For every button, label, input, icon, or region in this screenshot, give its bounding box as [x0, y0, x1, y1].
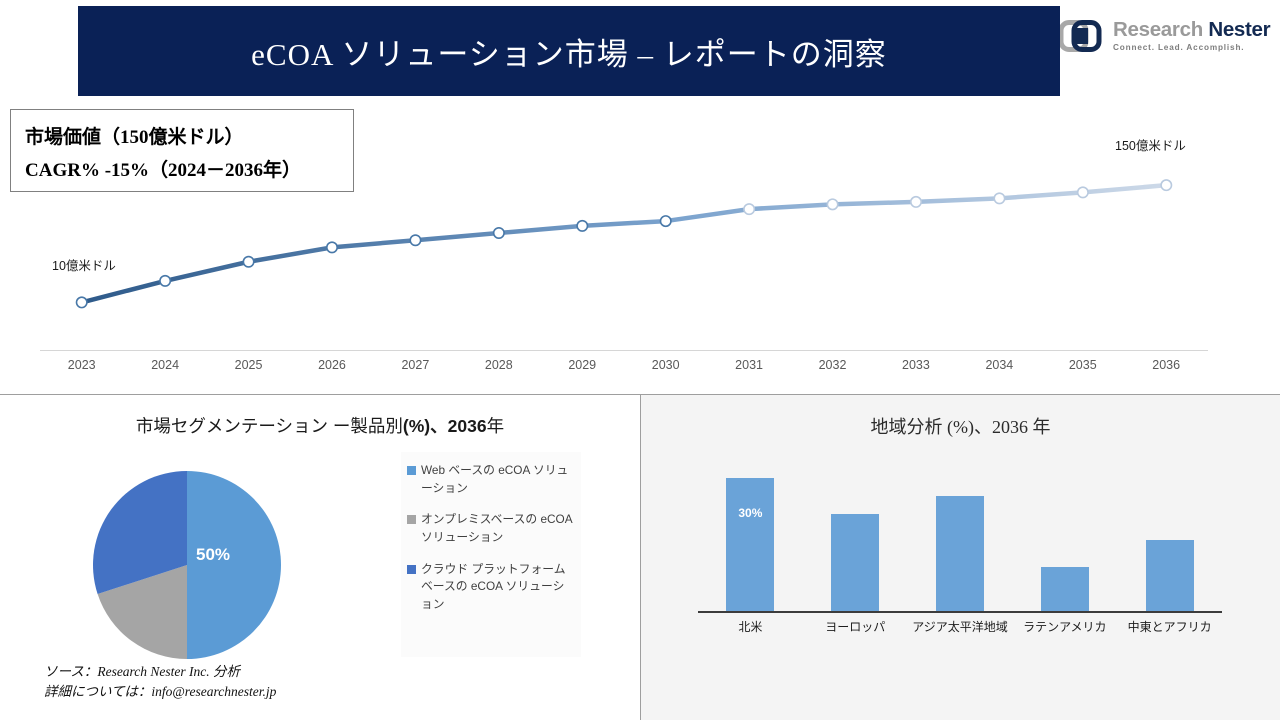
legend-item[interactable]: Web ベースの eCOA ソリューション	[407, 462, 575, 497]
source-line-1: ソース：Research Nester Inc. 分析	[44, 662, 276, 682]
line-chart-tick-label: 2027	[374, 358, 457, 372]
bar[interactable]	[831, 514, 879, 611]
segmentation-panel: 市場セグメンテーション ー製品別(%)、2036年 50% Web ベースの e…	[0, 395, 640, 720]
source-line-2: 詳細については：info@researchnester.jp	[44, 682, 276, 702]
pie-chart-graphic[interactable]	[93, 471, 281, 659]
line-chart-tick-label: 2035	[1041, 358, 1124, 372]
line-chart-tick-label: 2029	[541, 358, 624, 372]
line-chart-tick-label: 2033	[874, 358, 957, 372]
line-chart-axis	[40, 350, 1208, 351]
bar[interactable]	[1146, 540, 1194, 611]
logo-name-research: Research	[1113, 18, 1203, 41]
pie-title-tail: 年	[487, 416, 505, 436]
bar-chart-tick-label: ヨーロッパ	[803, 618, 908, 635]
line-chart-point[interactable]	[911, 197, 921, 207]
line-chart-point[interactable]	[410, 235, 420, 245]
line-chart-tick-label: 2023	[40, 358, 123, 372]
pie-title-plain: 市場セグメンテーション ー製品別	[136, 416, 403, 436]
bar-data-label: 30%	[726, 506, 774, 520]
pie-slice[interactable]	[187, 471, 281, 659]
line-chart-point[interactable]	[1161, 180, 1171, 190]
bar-column	[1012, 465, 1117, 611]
market-value-line-chart: 10億米ドル 150億米ドル 2023202420252026202720282…	[0, 120, 1280, 392]
bar-chart-axis	[698, 611, 1222, 613]
bar[interactable]: 30%	[726, 478, 774, 611]
legend-swatch-icon	[407, 466, 416, 475]
line-chart-tick-label: 2030	[624, 358, 707, 372]
line-chart-point[interactable]	[577, 221, 587, 231]
research-nester-logo: Research Nester Connect. Lead. Accomplis…	[1060, 10, 1274, 62]
page-title: eCOA ソリューション市場 – レポートの洞察	[251, 29, 887, 74]
line-chart-point[interactable]	[327, 242, 337, 252]
line-chart-x-ticks: 2023202420252026202720282029203020312032…	[40, 358, 1208, 372]
line-chart-tick-label: 2032	[791, 358, 874, 372]
bar[interactable]	[1041, 567, 1089, 611]
line-chart-tick-label: 2024	[123, 358, 206, 372]
pie-title-bold-year: 2036	[448, 416, 487, 436]
line-chart-point[interactable]	[77, 297, 87, 307]
pie-slice-data-label: 50%	[196, 545, 230, 565]
logo-tagline: Connect. Lead. Accomplish.	[1113, 44, 1270, 52]
line-chart-tick-label: 2025	[207, 358, 290, 372]
bar-chart-plot: 30%	[698, 465, 1222, 611]
line-chart-point[interactable]	[243, 257, 253, 267]
legend-item[interactable]: クラウド プラットフォーム ベースの eCOA ソリューション	[407, 561, 575, 614]
line-chart-tick-label: 2034	[958, 358, 1041, 372]
line-chart-point[interactable]	[1078, 187, 1088, 197]
line-chart-point[interactable]	[494, 228, 504, 238]
bar-chart-tick-label: 北米	[698, 618, 803, 635]
bar-chart-tick-label: 中東とアフリカ	[1117, 618, 1222, 635]
legend-item-label: Web ベースの eCOA ソリューション	[421, 462, 575, 497]
bar-chart-title: 地域分析 (%)、2036 年	[641, 413, 1280, 439]
legend-swatch-icon	[407, 565, 416, 574]
legend-item-label: クラウド プラットフォーム ベースの eCOA ソリューション	[421, 561, 575, 614]
bar-column	[1117, 465, 1222, 611]
bar-chart-x-ticks: 北米ヨーロッパアジア太平洋地域ラテンアメリカ中東とアフリカ	[698, 618, 1222, 635]
bar-column: 30%	[698, 465, 803, 611]
line-chart-point[interactable]	[661, 216, 671, 226]
line-chart-tick-label: 2026	[290, 358, 373, 372]
bar-chart-tick-label: ラテンアメリカ	[1012, 618, 1117, 635]
bar-chart-tick-label: アジア太平洋地域	[908, 618, 1013, 635]
pie-chart-title: 市場セグメンテーション ー製品別(%)、2036年	[0, 413, 640, 438]
bar-column	[803, 465, 908, 611]
line-chart-point[interactable]	[827, 199, 837, 209]
bar[interactable]	[936, 496, 984, 611]
line-chart-tick-label: 2028	[457, 358, 540, 372]
legend-swatch-icon	[407, 515, 416, 524]
line-chart-point[interactable]	[744, 204, 754, 214]
source-note: ソース：Research Nester Inc. 分析 詳細については：info…	[44, 662, 276, 701]
regional-analysis-panel: 地域分析 (%)、2036 年 30% 北米ヨーロッパアジア太平洋地域ラテンアメ…	[641, 395, 1280, 720]
logo-name-nester: Nester	[1208, 18, 1270, 41]
line-chart-point[interactable]	[160, 276, 170, 286]
infographic-page: eCOA ソリューション市場 – レポートの洞察 Research Nester…	[0, 0, 1280, 720]
legend-item[interactable]: オンプレミスベースの eCOA ソリューション	[407, 511, 575, 546]
pie-title-bold-pct: (%)、	[403, 416, 448, 436]
line-chart-point[interactable]	[994, 193, 1004, 203]
link-chain-logo-icon	[1060, 19, 1106, 53]
bar-column	[908, 465, 1013, 611]
legend-item-label: オンプレミスベースの eCOA ソリューション	[421, 511, 575, 546]
header-banner: eCOA ソリューション市場 – レポートの洞察	[78, 6, 1060, 96]
line-chart-plot	[0, 120, 1280, 392]
line-chart-tick-label: 2031	[707, 358, 790, 372]
pie-chart-legend: Web ベースの eCOA ソリューションオンプレミスベースの eCOA ソリュ…	[401, 452, 581, 657]
line-chart-tick-label: 2036	[1124, 358, 1207, 372]
